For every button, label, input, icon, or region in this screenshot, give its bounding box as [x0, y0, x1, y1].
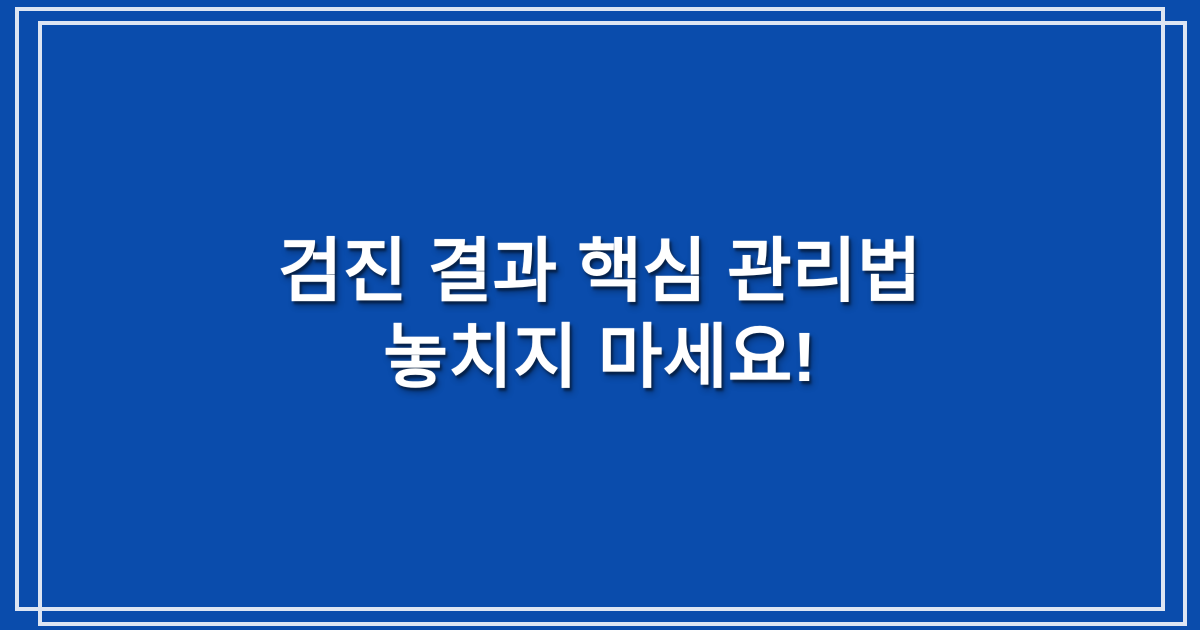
headline-line-2: 놓치지 마세요!: [383, 318, 816, 398]
banner-canvas: 검진 결과 핵심 관리법 놓치지 마세요!: [0, 0, 1200, 630]
headline-block: 검진 결과 핵심 관리법 놓치지 마세요!: [0, 0, 1200, 630]
headline-line-1: 검진 결과 핵심 관리법: [278, 232, 922, 312]
